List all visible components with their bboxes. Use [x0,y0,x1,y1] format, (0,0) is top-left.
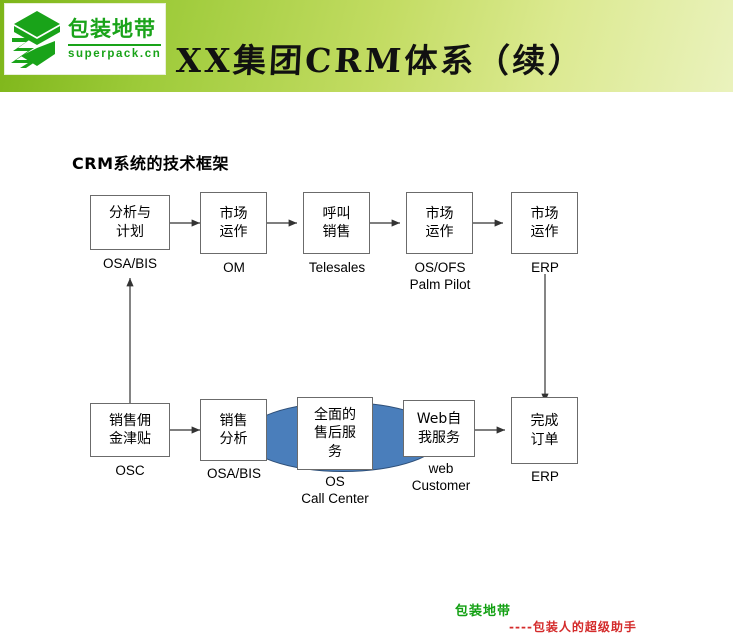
node-line: 运作 [220,223,248,241]
node-call-sales[interactable]: 呼叫 销售 [303,192,370,254]
node-line: 订单 [531,431,559,449]
node-line: 计划 [116,223,144,241]
slide-header-band: 包装地带 superpack.cn XX集团CRM体系（续） [0,0,733,92]
node-line: 销售佣 [109,412,151,430]
node-analysis-planning[interactable]: 分析与 计划 [90,195,170,250]
logo-brand-domain: superpack.cn [68,44,161,60]
logo-wordmark: 包装地带 superpack.cn [68,18,161,60]
watermark-brand: 包装地带 [455,600,511,619]
caption-telesales: Telesales [277,259,397,276]
node-line: 销售 [220,412,248,430]
caption-osc: OSC [70,462,190,479]
caption-erp-top: ERP [485,259,605,276]
node-line: 务 [328,443,342,461]
node-line: 我服务 [418,429,460,447]
node-sales-commission[interactable]: 销售佣 金津贴 [90,403,170,457]
caption-analysis-planning: OSA/BIS [70,255,190,272]
node-market-operation-erp[interactable]: 市场 运作 [511,192,578,254]
node-line: 金津贴 [109,430,151,448]
node-line: 运作 [426,223,454,241]
node-complete-order[interactable]: 完成 订单 [511,397,578,464]
node-after-sales-service[interactable]: 全面的 售后服 务 [297,397,373,470]
caption-erp-bottom: ERP [485,468,605,485]
caption-web-customer: web Customer [381,460,501,495]
node-line: 全面的 [314,406,356,424]
caption-os-ofs-palm-pilot: OS/OFS Palm Pilot [380,259,500,294]
node-line: 呼叫 [323,205,351,223]
node-line: 市场 [220,205,248,223]
node-line: 分析与 [109,204,151,222]
section-heading: CRM系统的技术框架 [72,150,229,174]
watermark-slogan: ----包装人的超级助手 [509,618,637,635]
caption-om: OM [174,259,294,276]
node-line: 销售 [323,223,351,241]
slide-body: CRM系统的技术框架 分析与 计划 OSA/BI [0,92,733,550]
package-box-icon [8,8,66,70]
node-line: 分析 [220,430,248,448]
node-line: Web自 [417,410,462,428]
node-market-operation-om[interactable]: 市场 运作 [200,192,267,254]
node-web-self-service[interactable]: Web自 我服务 [403,400,475,457]
node-sales-analysis[interactable]: 销售 分析 [200,399,267,461]
node-line: 完成 [531,412,559,430]
page-title: XX集团CRM体系（续） [175,34,586,82]
site-logo: 包装地带 superpack.cn [4,3,166,75]
node-line: 市场 [531,205,559,223]
node-line: 运作 [531,223,559,241]
caption-os-call-center: OS Call Center [275,473,395,508]
node-line: 售后服 [314,424,356,442]
node-line: 市场 [426,205,454,223]
node-market-operation-osofs[interactable]: 市场 运作 [406,192,473,254]
logo-brand-cn: 包装地带 [68,18,161,40]
